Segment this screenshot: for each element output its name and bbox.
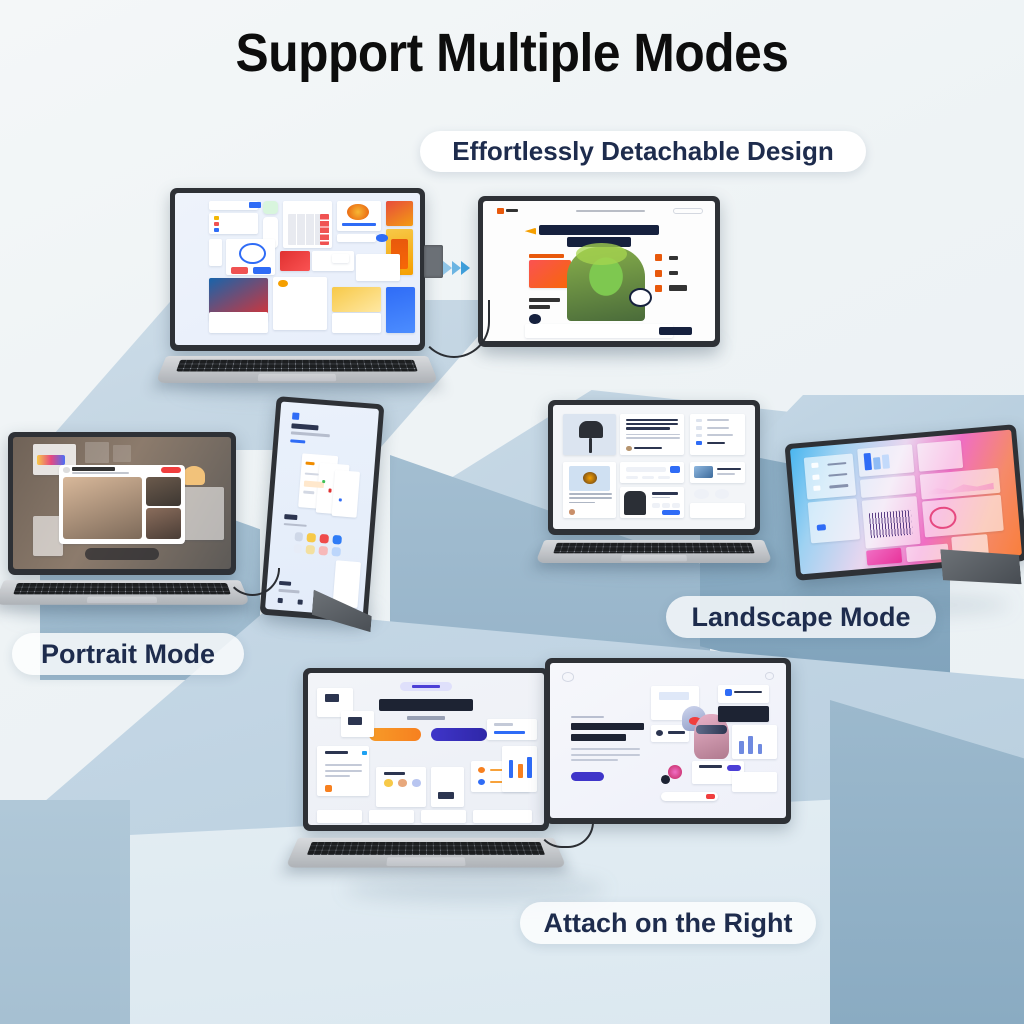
laptop-1-bezel [170, 188, 425, 351]
laptop-4-bezel [303, 668, 549, 831]
laptop-landscape-scene [548, 400, 760, 566]
laptop-3-bezel [548, 400, 760, 535]
detach-arrow-icon [443, 261, 452, 275]
laptop-detachable [170, 188, 425, 386]
pedestal-bottom-side-band [0, 800, 130, 1024]
label-landscape: Landscape Mode [666, 596, 936, 638]
video-call-ui [13, 437, 231, 569]
monitor-portrait [260, 396, 385, 623]
laptop-1-keyboard [155, 356, 438, 383]
detach-connector [424, 245, 443, 278]
adventure-world-site [483, 201, 715, 341]
ui-kit-mosaic [175, 193, 420, 345]
page-title: Support Multiple Modes [41, 22, 983, 84]
label-detachable: Effortlessly Detachable Design [420, 131, 866, 172]
poster-stage: Support Multiple Modes [0, 0, 1024, 1024]
shadow-laptop-attach-right [345, 876, 605, 902]
laptop-2-bezel [8, 432, 236, 575]
detach-arrow-icon [461, 261, 470, 275]
laptop-portrait-scene [8, 432, 236, 608]
monitor-portrait-screen [265, 401, 379, 616]
laptop-3-keyboard [535, 540, 773, 563]
blog-dashboard-ui [553, 405, 755, 529]
detach-arrow-icon [452, 261, 461, 275]
laptop-3-screen [553, 405, 755, 529]
laptop-4-screen [308, 673, 544, 825]
laptop-2-screen [13, 437, 231, 569]
label-portrait: Portrait Mode [12, 633, 244, 675]
monitor-landscape [784, 424, 1024, 581]
ai-messages-landing [550, 663, 786, 818]
laptop-2-keyboard [0, 580, 250, 605]
label-landscape-text: Landscape Mode [691, 602, 910, 633]
monitor-detached-bezel [478, 196, 720, 347]
design-system-page [265, 401, 379, 616]
label-attach-right: Attach on the Right [520, 902, 816, 944]
monitor-attach-right-bezel [545, 658, 791, 824]
monitor-attach-right [545, 658, 791, 824]
label-detachable-text: Effortlessly Detachable Design [452, 136, 833, 167]
monitor-portrait-bezel [260, 396, 385, 623]
monitor-attach-right-screen [550, 663, 786, 818]
laptop-attach-right [303, 668, 549, 872]
label-portrait-text: Portrait Mode [41, 639, 215, 670]
label-attach-right-text: Attach on the Right [544, 908, 793, 939]
widgetlab-landing [308, 673, 544, 825]
laptop-4-keyboard [285, 838, 566, 868]
monitor-detached [478, 196, 720, 347]
laptop-1-screen [175, 193, 420, 345]
monitor-detached-screen [483, 201, 715, 341]
